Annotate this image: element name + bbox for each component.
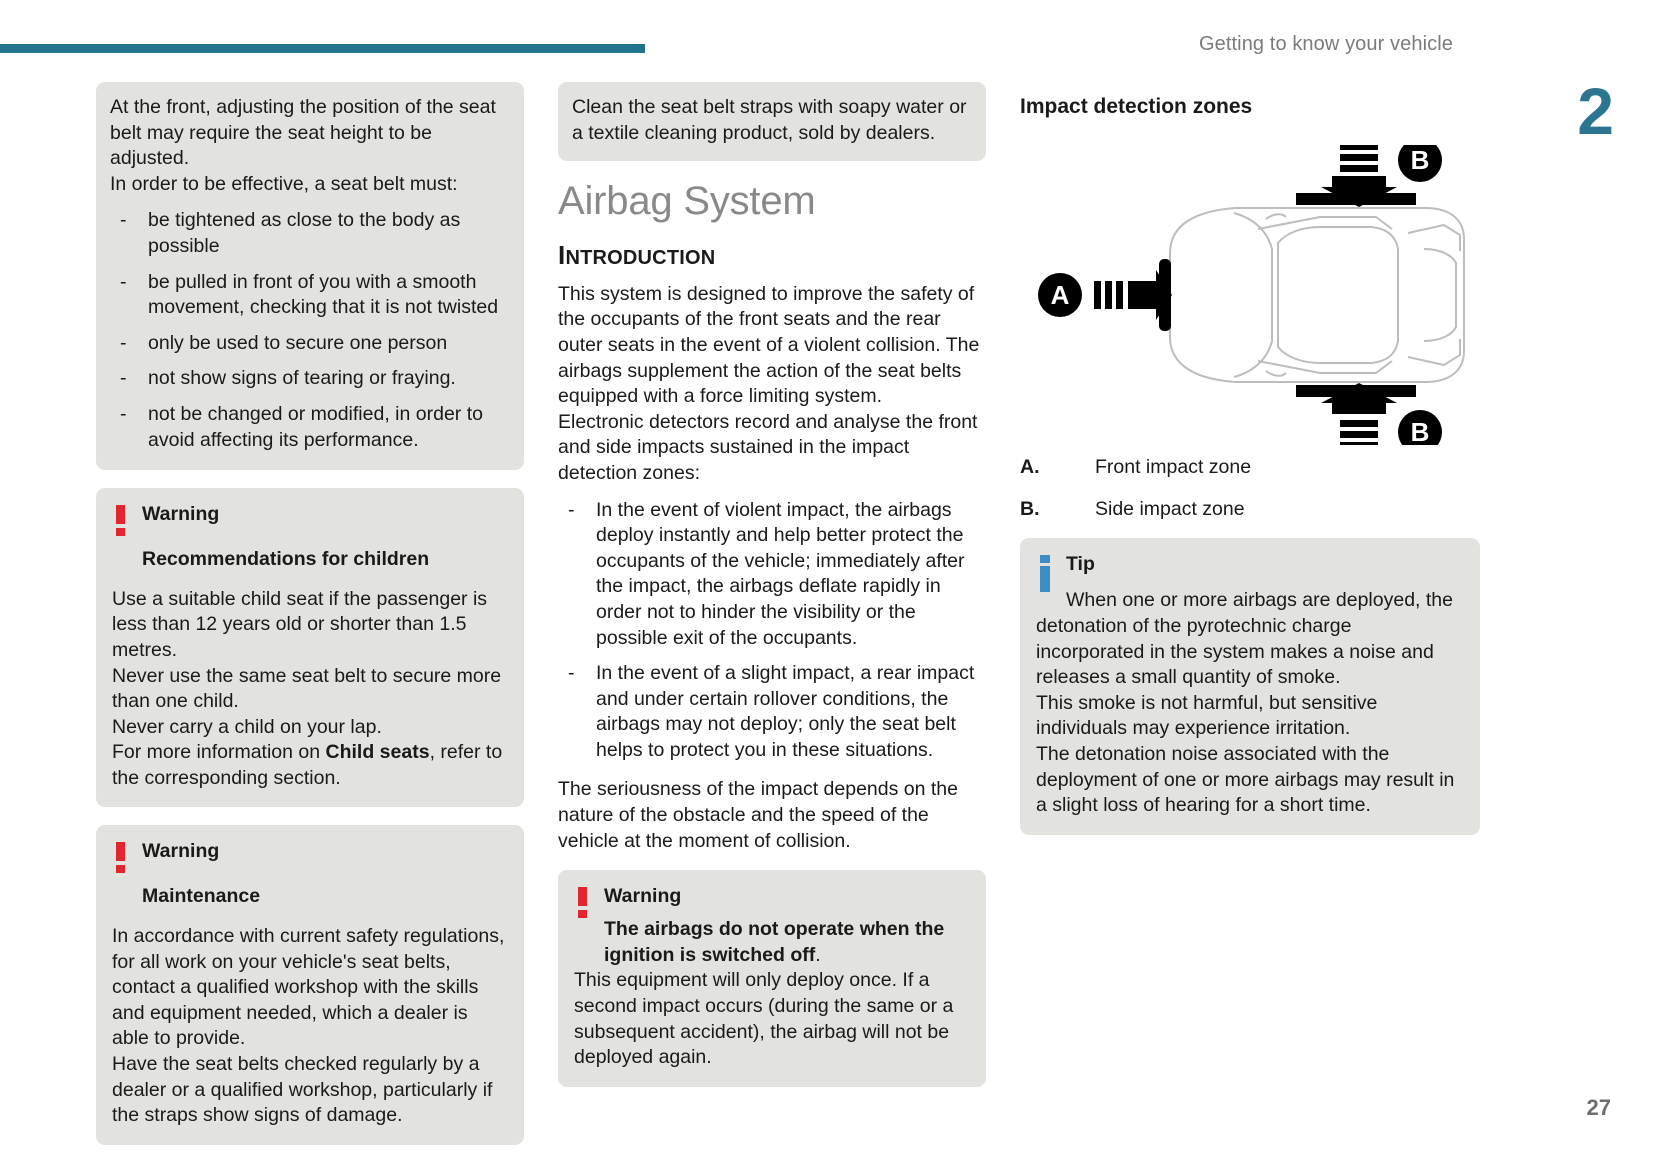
dash-bullet: -: [120, 366, 127, 392]
paragraph: The detonation noise associated with the…: [1036, 742, 1462, 819]
dash-bullet: -: [568, 661, 575, 687]
warning-title: Warning: [142, 839, 219, 863]
list-item: -be tightened as close to the body as po…: [110, 208, 508, 259]
warning-children-header: Warning: [112, 502, 506, 535]
warning-children-body: Use a suitable child seat if the passeng…: [112, 587, 506, 792]
paragraph: Never carry a child on your lap.: [112, 715, 506, 741]
legend-text: Front impact zone: [1095, 455, 1251, 481]
warning-exclamation-icon: [578, 887, 587, 917]
warning-lead-tail: .: [815, 944, 820, 966]
airbag-behaviour-list: -In the event of violent impact, the air…: [558, 498, 986, 764]
list-item: -In the event of violent impact, the air…: [558, 498, 986, 652]
warning-subtitle: Maintenance: [142, 884, 506, 910]
impact-zone-legend: A. Front impact zone B. Side impact zone: [1020, 455, 1480, 522]
header-accent-rule: [0, 44, 645, 53]
list-item-text: be pulled in front of you with a smooth …: [148, 271, 498, 319]
warning-subtitle: Recommendations for children: [142, 547, 506, 573]
page-title: Airbag System: [558, 179, 986, 223]
column-one: At the front, adjusting the position of …: [96, 82, 524, 1163]
paragraph: Electronic detectors record and analyse …: [558, 410, 986, 487]
paragraph: When one or more airbags are deployed, t…: [1036, 588, 1462, 690]
list-item-text: not be changed or modified, in order to …: [148, 403, 483, 451]
seatbelt-intro-line-1: At the front, adjusting the position of …: [110, 95, 508, 172]
chapter-number: 2: [1577, 78, 1613, 144]
legend-row: B. Side impact zone: [1020, 497, 1480, 523]
warning-children-callout: Warning Recommendations for children Use…: [96, 488, 524, 807]
paragraph: This smoke is not harmful, but sensitive…: [1036, 691, 1462, 742]
info-icon: [1040, 555, 1050, 588]
legend-key: B.: [1020, 497, 1095, 523]
list-item-text: In the event of a slight impact, a rear …: [596, 662, 974, 761]
warning-icon-column: [112, 502, 142, 535]
paragraph: This equipment will only deploy once. If…: [574, 968, 968, 1070]
paragraph: This system is designed to improve the s…: [558, 282, 986, 410]
tip-title: Tip: [1066, 552, 1095, 576]
column-two: Clean the seat belt straps with soapy wa…: [558, 82, 986, 1105]
introduction-heading: INTRODUCTION: [558, 241, 986, 270]
impact-zones-title: Impact detection zones: [1020, 94, 1480, 119]
seatbelt-requirements-box: At the front, adjusting the position of …: [96, 82, 524, 470]
list-item: -In the event of a slight impact, a rear…: [558, 661, 986, 763]
seatbelt-requirements-list: -be tightened as close to the body as po…: [110, 208, 508, 453]
warning-exclamation-icon: [116, 505, 125, 535]
list-item-text: be tightened as close to the body as pos…: [148, 209, 460, 257]
list-item: -not be changed or modified, in order to…: [110, 402, 508, 453]
seatbelt-intro-line-2: In order to be effective, a seat belt mu…: [110, 172, 508, 198]
text-pre: For more information on: [112, 741, 326, 763]
dash-bullet: -: [120, 402, 127, 428]
dash-bullet: -: [120, 270, 127, 296]
page-number: 27: [1587, 1095, 1611, 1121]
tip-header: Tip: [1036, 552, 1462, 588]
page-columns: At the front, adjusting the position of …: [96, 82, 1566, 1163]
column-three: Impact detection zones: [1020, 82, 1480, 853]
diagram-label-b-top: B: [1411, 145, 1430, 175]
paragraph: Use a suitable child seat if the passeng…: [112, 587, 506, 664]
warning-ignition-callout: Warning The airbags do not operate when …: [558, 870, 986, 1087]
impact-detection-zones-diagram: B B A: [1020, 145, 1480, 445]
paragraph-with-bold: For more information on Child seats, ref…: [112, 740, 506, 791]
warning-title: Warning: [142, 502, 219, 526]
warning-maintenance-header: Warning: [112, 839, 506, 872]
header-section-label: Getting to know your vehicle: [1199, 33, 1453, 56]
list-item-text: not show signs of tearing or fraying.: [148, 367, 456, 389]
diagram-label-b-bottom: B: [1411, 417, 1430, 445]
cleaning-text: Clean the seat belt straps with soapy wa…: [572, 95, 970, 146]
legend-key: A.: [1020, 455, 1095, 481]
list-item: -be pulled in front of you with a smooth…: [110, 270, 508, 321]
warning-ignition-header: Warning: [574, 884, 968, 917]
legend-text: Side impact zone: [1095, 497, 1245, 523]
tip-body: When one or more airbags are deployed, t…: [1036, 588, 1462, 818]
dash-bullet: -: [120, 331, 127, 357]
warning-lead-bold: The airbags do not operate when the igni…: [604, 918, 944, 966]
list-item: -only be used to secure one person: [110, 331, 508, 357]
paragraph: In accordance with current safety regula…: [112, 924, 506, 1052]
legend-row: A. Front impact zone: [1020, 455, 1480, 481]
dash-bullet: -: [120, 208, 127, 234]
warning-maintenance-body: In accordance with current safety regula…: [112, 924, 506, 1129]
warning-title: Warning: [604, 884, 681, 908]
paragraph: Never use the same seat belt to secure m…: [112, 664, 506, 715]
seatbelt-cleaning-box: Clean the seat belt straps with soapy wa…: [558, 82, 986, 161]
info-icon-column: [1036, 552, 1066, 588]
warning-ignition-body: This equipment will only deploy once. If…: [574, 968, 968, 1070]
warning-exclamation-icon: [116, 842, 125, 872]
paragraph: Have the seat belts checked regularly by…: [112, 1052, 506, 1129]
list-item-text: only be used to secure one person: [148, 332, 447, 354]
warning-ignition-lead: The airbags do not operate when the igni…: [604, 917, 968, 968]
tip-callout: Tip When one or more airbags are deploye…: [1020, 538, 1480, 834]
heading-smallcaps: NTRODUCTION: [565, 247, 715, 269]
child-seats-reference: Child seats: [326, 741, 430, 763]
paragraph: The seriousness of the impact depends on…: [558, 777, 986, 854]
warning-icon-column: [574, 884, 604, 917]
diagram-label-a: A: [1051, 280, 1070, 310]
introduction-body: This system is designed to improve the s…: [558, 282, 986, 854]
warning-icon-column: [112, 839, 142, 872]
list-item-text: In the event of violent impact, the airb…: [596, 499, 965, 649]
list-item: -not show signs of tearing or fraying.: [110, 366, 508, 392]
warning-maintenance-callout: Warning Maintenance In accordance with c…: [96, 825, 524, 1144]
dash-bullet: -: [568, 498, 575, 524]
